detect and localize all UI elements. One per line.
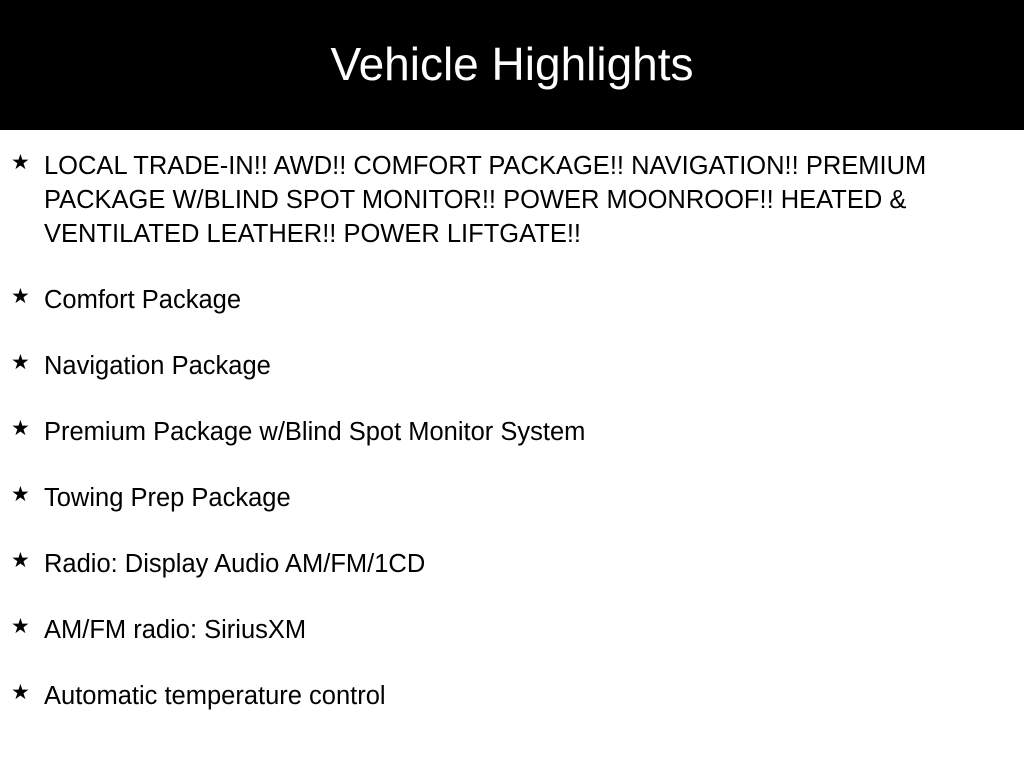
star-bullet-icon: ★ [11, 352, 31, 373]
page-title: Vehicle Highlights [330, 41, 693, 89]
star-bullet-icon: ★ [11, 616, 31, 637]
star-bullet-icon: ★ [11, 152, 31, 173]
list-item: ★ Premium Package w/Blind Spot Monitor S… [0, 383, 1024, 449]
list-item-label: Premium Package w/Blind Spot Monitor Sys… [44, 415, 949, 449]
list-item: ★ Radio: Display Audio AM/FM/1CD [0, 515, 1024, 581]
star-bullet-icon: ★ [11, 550, 31, 571]
list-item-label: AM/FM radio: SiriusXM [44, 613, 949, 647]
list-item-label: Radio: Display Audio AM/FM/1CD [44, 547, 949, 581]
list-item: ★ AM/FM radio: SiriusXM [0, 581, 1024, 647]
star-bullet-icon: ★ [11, 418, 31, 439]
list-item-label: Automatic temperature control [44, 679, 949, 713]
vehicle-highlights-list: ★ LOCAL TRADE-IN!! AWD!! COMFORT PACKAGE… [0, 130, 1024, 713]
list-item-label: Navigation Package [44, 349, 949, 383]
list-item: ★ Comfort Package [0, 251, 1024, 317]
list-item-label: LOCAL TRADE-IN!! AWD!! COMFORT PACKAGE!!… [44, 149, 949, 251]
list-item: ★ Towing Prep Package [0, 449, 1024, 515]
list-item: ★ Navigation Package [0, 317, 1024, 383]
star-bullet-icon: ★ [11, 484, 31, 505]
vehicle-highlights-page: Vehicle Highlights ★ LOCAL TRADE-IN!! AW… [0, 0, 1024, 768]
list-item-label: Comfort Package [44, 283, 949, 317]
page-header-band: Vehicle Highlights [0, 0, 1024, 130]
list-item: ★ LOCAL TRADE-IN!! AWD!! COMFORT PACKAGE… [0, 130, 1024, 251]
list-item: ★ Automatic temperature control [0, 647, 1024, 713]
list-item-label: Towing Prep Package [44, 481, 949, 515]
star-bullet-icon: ★ [11, 682, 31, 703]
star-bullet-icon: ★ [11, 286, 31, 307]
